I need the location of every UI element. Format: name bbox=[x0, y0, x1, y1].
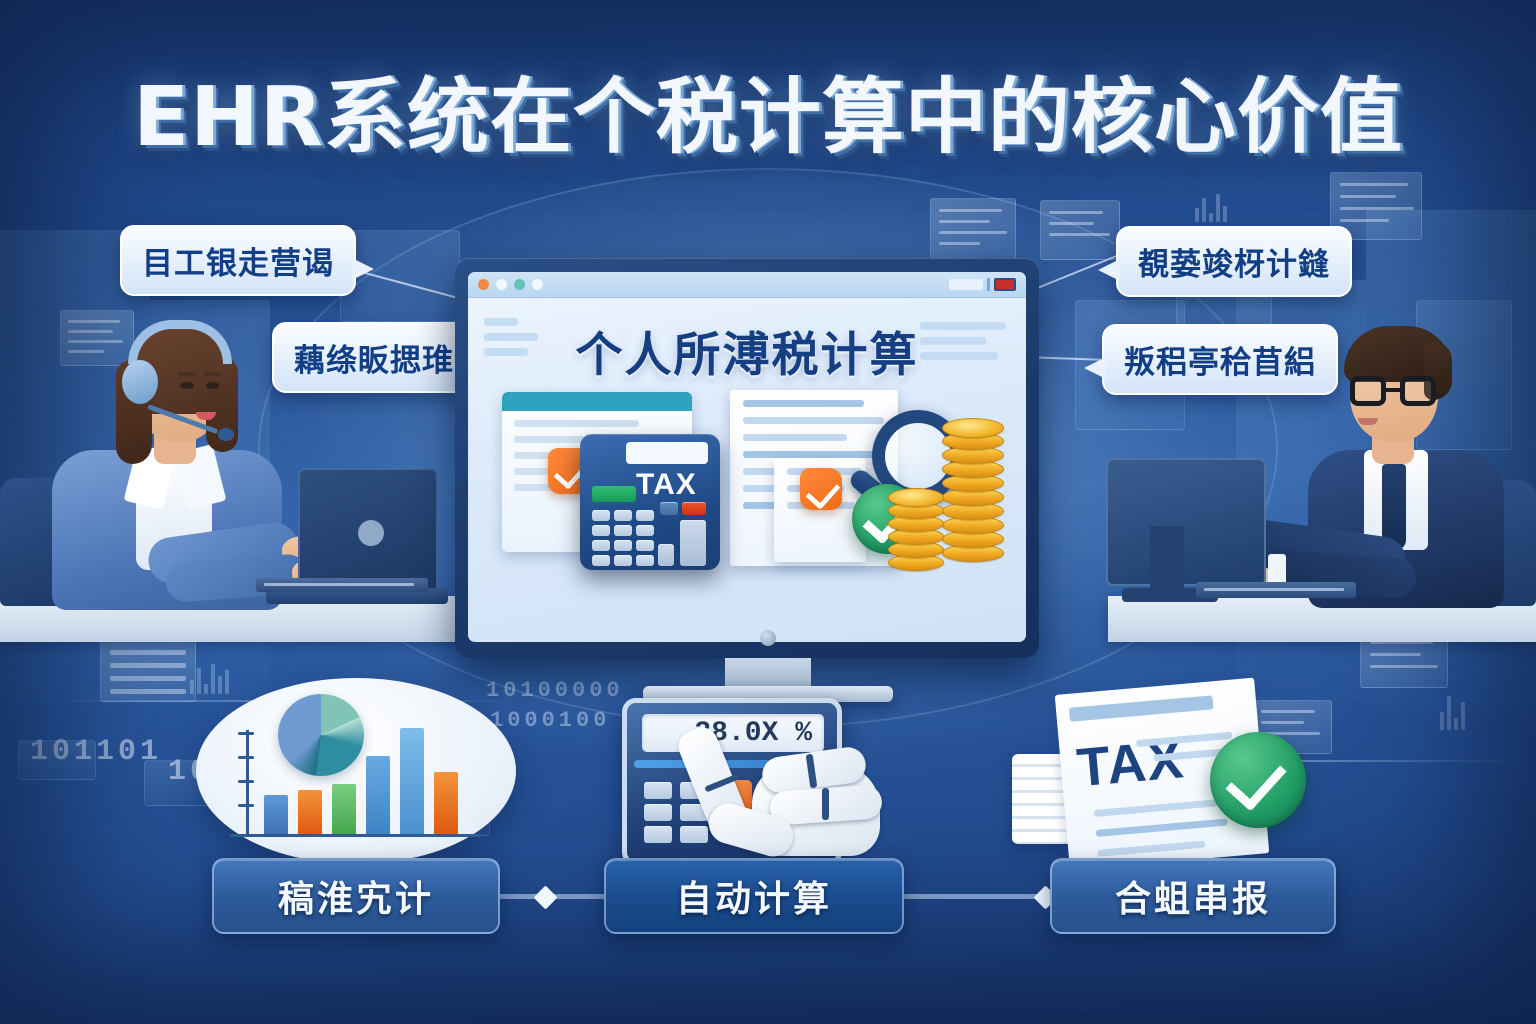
laptop-logo-left bbox=[358, 520, 384, 546]
chip-statistics-label: 稿淮宄计 bbox=[278, 870, 434, 922]
chart-pie bbox=[278, 694, 364, 776]
calculator-key-enter[interactable] bbox=[680, 520, 706, 566]
headset-mic-tip-left bbox=[218, 428, 234, 441]
keyboard-right bbox=[1196, 582, 1356, 598]
eye-left-1 bbox=[180, 382, 194, 389]
chart-mini-statistics bbox=[216, 690, 496, 858]
calculator-key-r4c1[interactable] bbox=[592, 555, 610, 566]
person-right bbox=[1128, 300, 1528, 640]
main-monitor: 个人所溥税计箅 bbox=[455, 258, 1039, 658]
desktop-monitor-stand-right bbox=[1150, 526, 1184, 596]
tax-calculator[interactable]: TAX bbox=[580, 434, 720, 570]
chart-tick-3 bbox=[238, 780, 254, 783]
green-check-icon-bottom bbox=[1210, 732, 1306, 828]
chip-auto-calc-label: 自动计算 bbox=[676, 870, 832, 922]
calculator-display-value: 38.0X % bbox=[642, 718, 824, 749]
screen-paper-line-3 bbox=[743, 434, 847, 441]
chart-bar-1 bbox=[264, 795, 288, 834]
window-controls bbox=[949, 278, 1016, 291]
calculator-key-red[interactable] bbox=[682, 502, 706, 515]
calculator-key-r4c2[interactable] bbox=[614, 555, 632, 566]
chart-tick-4 bbox=[238, 804, 254, 807]
calculator-key-r2c3[interactable] bbox=[636, 525, 654, 536]
laptop-keyboard-left bbox=[256, 578, 428, 592]
calculator-key-r1c1[interactable] bbox=[592, 510, 610, 521]
callout-top-right-label: 覩蒆竣枒计鏠 bbox=[1138, 239, 1330, 284]
monitor-power-dot bbox=[760, 630, 776, 646]
laptop-lid-left bbox=[298, 468, 438, 596]
robot-calculator-group: 38.0X % bbox=[612, 692, 912, 872]
glasses-lens-right bbox=[1400, 376, 1436, 406]
chart-bar-3 bbox=[332, 784, 356, 834]
tax-document-group: TAX bbox=[1002, 680, 1352, 870]
chart-bar-4 bbox=[366, 756, 390, 834]
calculator-auto-key-r1c1[interactable] bbox=[644, 782, 672, 799]
calculator-display bbox=[626, 442, 708, 464]
infographic-canvas: 101101 10011 10100000 1000100 10 EHR系统在个… bbox=[0, 0, 1536, 1024]
chip-auto-calc[interactable]: 自动计算 bbox=[604, 858, 904, 934]
calculator-key-r4c3[interactable] bbox=[636, 555, 654, 566]
screen-card-left-line-1 bbox=[514, 420, 639, 427]
chart-bar-6 bbox=[434, 772, 458, 834]
window-dot-2[interactable] bbox=[496, 279, 507, 290]
calculator-key-r2c1[interactable] bbox=[592, 525, 610, 536]
calculator-key-r3c3[interactable] bbox=[636, 540, 654, 551]
calculator-key-blue[interactable] bbox=[660, 502, 678, 515]
headset-earcup-left bbox=[122, 360, 158, 404]
calculator-tax-label: TAX bbox=[636, 468, 697, 502]
tax-doc-line-5 bbox=[1096, 818, 1228, 836]
tax-doc-line-1 bbox=[1069, 695, 1214, 721]
window-dot-1[interactable] bbox=[478, 279, 489, 290]
calculator-key-r1c3[interactable] bbox=[636, 510, 654, 521]
page-title: EHR系统在个税计算中的核心价值 bbox=[0, 50, 1536, 169]
window-dot-3[interactable] bbox=[514, 279, 525, 290]
calculator-key-r2c2[interactable] bbox=[614, 525, 632, 536]
chart-tick-2 bbox=[238, 756, 254, 759]
glasses-bridge bbox=[1386, 388, 1400, 392]
screen-card-left-header bbox=[502, 392, 692, 411]
eye-left-2 bbox=[206, 382, 219, 389]
screen-side-lines-right bbox=[920, 322, 1006, 360]
desktop-monitor-right bbox=[1106, 458, 1266, 586]
gold-coin-stack-tall bbox=[942, 404, 1004, 572]
robot-knuckle-3 bbox=[822, 788, 829, 820]
chart-bar-5 bbox=[400, 728, 424, 834]
monitor-screen: 个人所溥税计箅 bbox=[468, 272, 1026, 642]
calculator-key-r3c1[interactable] bbox=[592, 540, 610, 551]
orange-check-icon-2 bbox=[800, 468, 842, 510]
callout-top-left-label: 目工银走营谒 bbox=[142, 238, 334, 283]
chip-compliance[interactable]: 合蛆串报 bbox=[1050, 858, 1336, 934]
window-pill bbox=[949, 279, 983, 290]
window-divider bbox=[987, 278, 990, 291]
tax-doc-line-6 bbox=[1097, 841, 1205, 857]
glasses-right bbox=[1350, 376, 1442, 410]
chart-tick-1 bbox=[238, 732, 254, 735]
callout-top-left[interactable]: 目工银走营谒 bbox=[120, 225, 356, 296]
monitor-neck bbox=[725, 658, 811, 688]
browser-title-bar bbox=[468, 272, 1026, 298]
screen-card-left-line-2 bbox=[514, 436, 590, 443]
window-close-chip[interactable] bbox=[994, 278, 1016, 291]
chip-statistics[interactable]: 稿淮宄计 bbox=[212, 858, 500, 934]
brow-left-1 bbox=[178, 372, 196, 376]
chart-x-axis bbox=[230, 834, 480, 837]
calculator-key-zero[interactable] bbox=[658, 544, 674, 566]
calculator-auto-key-r3c1[interactable] bbox=[644, 826, 672, 843]
calculator-key-r1c2[interactable] bbox=[614, 510, 632, 521]
headset-band-left bbox=[128, 320, 232, 364]
person-left bbox=[30, 300, 450, 640]
chip-compliance-label: 合蛆串报 bbox=[1115, 870, 1271, 922]
calculator-auto-key-r3c2[interactable] bbox=[680, 826, 708, 843]
window-dot-4[interactable] bbox=[532, 279, 543, 290]
callout-top-right[interactable]: 覩蒆竣枒计鏠 bbox=[1116, 226, 1352, 297]
calculator-key-r3c2[interactable] bbox=[614, 540, 632, 551]
screen-paper-line-1 bbox=[743, 400, 864, 407]
chart-bar-2 bbox=[298, 790, 322, 834]
screen-side-lines-left bbox=[484, 318, 538, 356]
glasses-lens-left bbox=[1350, 376, 1386, 406]
calculator-auto-key-r2c1[interactable] bbox=[644, 804, 672, 821]
brow-left-2 bbox=[204, 372, 221, 376]
calculator-green-display bbox=[592, 486, 636, 502]
gold-coin-stack-short bbox=[888, 488, 944, 576]
